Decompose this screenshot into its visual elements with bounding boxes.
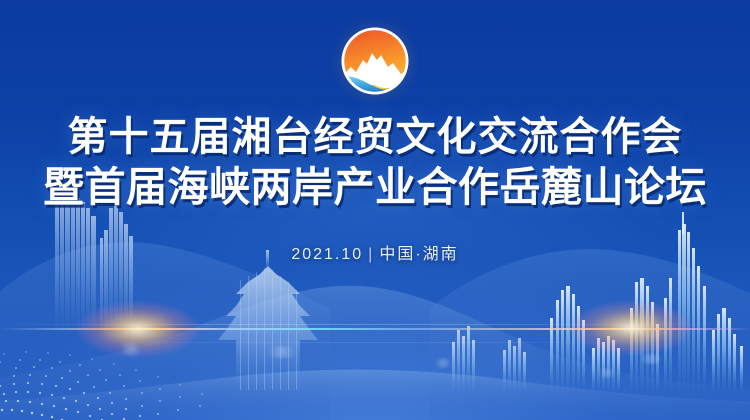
conference-emblem: [341, 27, 409, 95]
subtitle-separator: |: [368, 246, 374, 263]
conference-banner: 第十五届湘台经贸文化交流合作会 暨首届海峡两岸产业合作岳麓山论坛 2021.10…: [0, 0, 750, 420]
subtitle-block: 2021.10|中国·湖南: [0, 240, 750, 264]
event-date: 2021.10: [291, 246, 363, 263]
mountain-water-circle-icon: [341, 27, 409, 95]
event-location: 中国·湖南: [379, 246, 458, 263]
title-block: 第十五届湘台经贸文化交流合作会 暨首届海峡两岸产业合作岳麓山论坛: [0, 112, 750, 212]
city-skyline-left: [55, 190, 133, 338]
title-line-2: 暨首届海峡两岸产业合作岳麓山论坛: [0, 162, 750, 212]
dotted-arc-pattern: [0, 336, 230, 420]
logo-container: [0, 27, 750, 95]
title-line-1: 第十五届湘台经贸文化交流合作会: [0, 112, 750, 162]
